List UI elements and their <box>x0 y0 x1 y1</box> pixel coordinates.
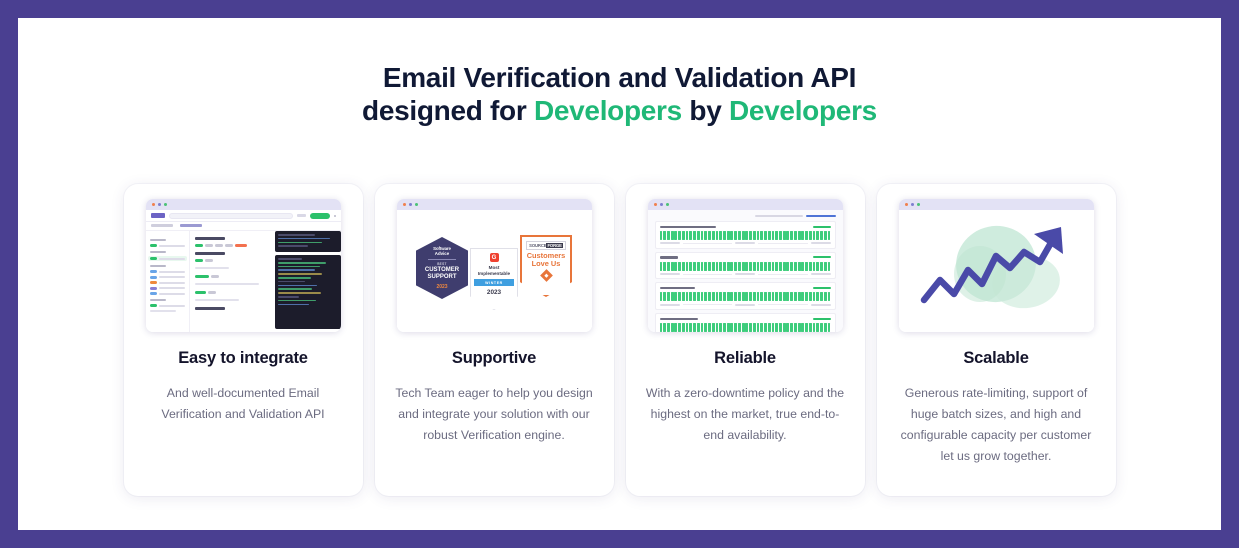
window-close-dot <box>152 203 155 206</box>
docs-tabs <box>146 222 341 231</box>
window-titlebar <box>146 199 341 210</box>
docs-navbar <box>146 210 341 222</box>
page-title-accent-1: Developers <box>534 95 682 126</box>
status-service-row <box>655 313 836 332</box>
status-service-list <box>655 221 836 332</box>
feature-card-text: And well-documented Email Verification a… <box>141 383 346 425</box>
window-minimize-dot <box>409 203 412 206</box>
nav-link <box>297 214 306 217</box>
feature-card-easy-to-integrate[interactable]: Easy to integrate And well-documented Em… <box>124 184 363 496</box>
badge-award-line2: SUPPORT <box>427 274 456 280</box>
badge-brand-line2: Advice <box>435 251 449 256</box>
status-service-state <box>813 226 831 228</box>
sf-brand-part1: SOURCE <box>529 243 546 248</box>
status-service-state <box>813 256 831 258</box>
growth-arrow-graphic <box>899 210 1094 332</box>
uptime-range-label <box>660 304 680 306</box>
uptime-range-label <box>811 273 831 275</box>
content-panel: Email Verification and Validation API de… <box>18 18 1221 530</box>
badge-sourceforge-customers-love-us: SOURCEFORGE Customers Love Us ◆ <box>520 235 572 297</box>
feature-card-text: Tech Team eager to help you design and i… <box>392 383 597 446</box>
badge-software-advice: Software Advice BEST CUSTOMER SUPPORT 20… <box>416 237 468 299</box>
page-title: Email Verification and Validation API de… <box>18 18 1221 128</box>
sf-brand-part2: FORGE <box>546 243 562 248</box>
feature-card-title: Reliable <box>714 349 776 368</box>
award-badges-screenshot: Software Advice BEST CUSTOMER SUPPORT 20… <box>397 199 592 332</box>
feature-card-text: Generous rate-limiting, support of huge … <box>894 383 1099 468</box>
uptime-range-label <box>811 304 831 306</box>
uptime-range-label <box>660 273 680 275</box>
uptime-bar-chart <box>660 292 831 301</box>
window-maximize-dot <box>415 203 418 206</box>
window-close-dot <box>654 203 657 206</box>
feature-card-text: With a zero-downtime policy and the high… <box>643 383 848 446</box>
feature-card-reliable[interactable]: Reliable With a zero-downtime policy and… <box>626 184 865 496</box>
window-titlebar <box>397 199 592 210</box>
feature-card-title: Easy to integrate <box>178 349 308 368</box>
award-badge-group: Software Advice BEST CUSTOMER SUPPORT 20… <box>397 210 592 332</box>
status-service-row <box>655 282 836 310</box>
tab-documentation <box>151 224 173 227</box>
status-service-name <box>660 226 716 228</box>
feature-card-scalable[interactable]: Scalable Generous rate-limiting, support… <box>877 184 1116 496</box>
sidebar-heading <box>150 239 166 241</box>
more-menu-icon <box>334 215 336 217</box>
badge-award-line2: Love Us <box>532 260 561 268</box>
badge-award-line1: Most <box>489 265 500 270</box>
section-heading-query-parameters <box>195 252 225 255</box>
g2-logo-icon: G <box>490 253 499 262</box>
sidebar-heading <box>150 299 166 301</box>
section-heading-response <box>195 307 225 310</box>
window-maximize-dot <box>164 203 167 206</box>
section-heading-authorization <box>195 237 225 240</box>
window-minimize-dot <box>660 203 663 206</box>
uptime-range-label <box>735 242 755 244</box>
growth-chart-illustration <box>899 199 1094 332</box>
signup-button <box>310 213 330 219</box>
status-service-state <box>813 287 831 289</box>
uptime-range-label <box>811 242 831 244</box>
status-service-state <box>813 318 831 320</box>
status-service-row <box>655 221 836 249</box>
window-titlebar <box>899 199 1094 210</box>
brand-logo-icon <box>151 213 165 218</box>
page-title-line1: Email Verification and Validation API <box>383 62 856 93</box>
uptime-range-label <box>735 304 755 306</box>
growth-arrow-svg <box>906 212 1086 330</box>
window-minimize-dot <box>158 203 161 206</box>
status-page <box>648 210 843 332</box>
code-samples <box>275 231 341 332</box>
search-input <box>169 213 293 219</box>
window-minimize-dot <box>911 203 914 206</box>
page-title-line2-middle: by <box>682 95 729 126</box>
feature-card-title: Scalable <box>963 349 1028 368</box>
api-documentation-screenshot <box>146 199 341 332</box>
uptime-range-labels <box>660 242 831 244</box>
status-service-name <box>660 287 695 289</box>
window-close-dot <box>403 203 406 206</box>
sidebar-heading <box>150 251 166 253</box>
feature-card-supportive[interactable]: Software Advice BEST CUSTOMER SUPPORT 20… <box>375 184 614 496</box>
historical-uptime-link[interactable] <box>806 215 836 217</box>
status-service-name <box>660 318 698 320</box>
status-service-name <box>660 256 679 258</box>
tab-api-reference <box>180 224 202 227</box>
code-sample-request <box>275 231 341 252</box>
badge-season: WINTER <box>474 279 514 286</box>
uptime-range-labels <box>660 273 831 275</box>
badge-year: 2023 <box>436 284 447 290</box>
uptime-range-label <box>660 242 680 244</box>
uptime-range-label <box>735 273 755 275</box>
badge-kicker: BEST <box>437 262 447 266</box>
badge-award-line2: Implementable <box>478 271 510 276</box>
uptime-bar-chart <box>660 231 831 240</box>
code-sample-response <box>275 255 341 329</box>
window-maximize-dot <box>917 203 920 206</box>
status-page-header <box>655 215 836 217</box>
window-titlebar <box>648 199 843 210</box>
feature-card-title: Supportive <box>452 349 536 368</box>
badge-g2-most-implementable: G Most Implementable WINTER 2023 <box>470 248 518 310</box>
uptime-bar-chart <box>660 323 831 332</box>
uptime-range-labels <box>660 304 831 306</box>
badge-year: 2023 <box>487 289 501 296</box>
sidebar-heading <box>150 265 166 267</box>
window-close-dot <box>905 203 908 206</box>
docs-sidebar <box>146 231 190 332</box>
uptime-note <box>755 215 803 217</box>
feature-card-list: Easy to integrate And well-documented Em… <box>18 184 1221 496</box>
sourceforge-diamond-icon: ◆ <box>540 269 553 282</box>
page-title-line2-prefix: designed for <box>362 95 534 126</box>
status-page-uptime-screenshot <box>648 199 843 332</box>
window-maximize-dot <box>666 203 669 206</box>
status-service-row <box>655 252 836 280</box>
badge-award-line1: CUSTOMER <box>425 267 459 273</box>
page-title-accent-2: Developers <box>729 95 877 126</box>
uptime-bar-chart <box>660 262 831 271</box>
docs-viewport <box>146 210 341 332</box>
sourceforge-logo: SOURCEFORGE <box>526 241 566 250</box>
